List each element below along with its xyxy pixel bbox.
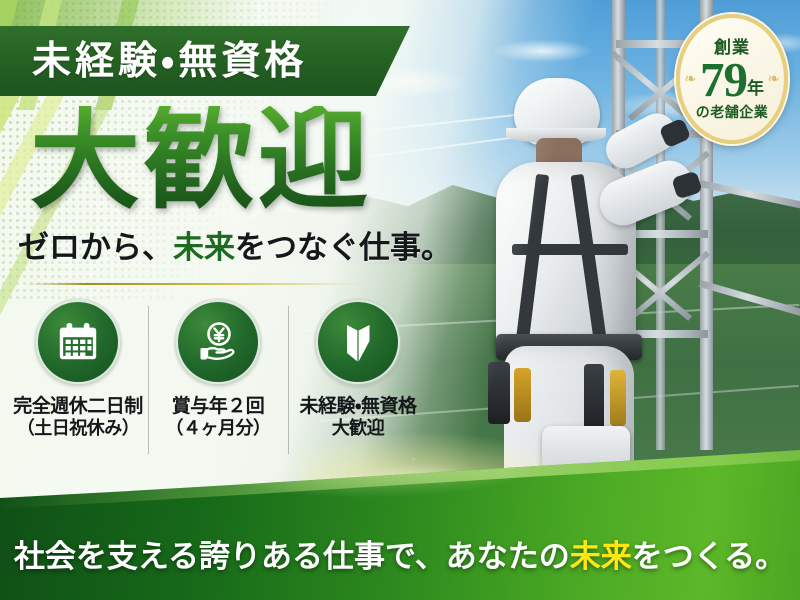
feature-label-sub: 大歓迎	[300, 418, 417, 440]
badge-unit: 年	[747, 80, 764, 97]
feature-item: 完全週休二日制 （土日祝休み）	[8, 300, 148, 470]
feature-label: 賞与年２回 （４ヶ月分）	[166, 395, 271, 440]
founded-badge: 創業 ❧ 79 年 ❧ の老舗企業	[676, 14, 788, 144]
tagline-after: をつなぐ仕事。	[235, 230, 452, 265]
badge-bottom-label: の老舗企業	[696, 105, 769, 119]
feature-item: 未経験・無資格 大歓迎	[288, 300, 428, 470]
gold-divider	[26, 283, 362, 285]
feature-list: 完全週休二日制 （土日祝休み） 賞与年２	[8, 300, 428, 470]
ribbon-label: 未経験・無資格	[32, 42, 307, 81]
laurel-right-icon: ❧	[767, 72, 780, 87]
feature-icon-circle	[176, 300, 260, 384]
badge-number: 79	[700, 57, 747, 102]
wakaba-leaf-icon	[336, 318, 380, 366]
tagline-highlight: 未来	[173, 230, 235, 265]
feature-label-sub: （４ヶ月分）	[166, 418, 271, 440]
recruitment-banner: 未経験・無資格 大歓迎 ゼロから、未来をつなぐ仕事。	[0, 0, 800, 600]
bottom-message-highlight: 未来	[570, 539, 632, 574]
bottom-message-before: 社会を支える誇りある仕事で、あなたの	[14, 539, 570, 574]
feature-label: 未経験・無資格 大歓迎	[300, 395, 417, 440]
ribbon-banner: 未経験・無資格	[0, 26, 410, 96]
feature-icon-circle	[316, 300, 400, 384]
feature-label-sub: （土日祝休み）	[13, 418, 143, 440]
bottom-message: 社会を支える誇りある仕事で、あなたの未来をつくる。	[0, 541, 800, 572]
laurel-left-icon: ❧	[684, 72, 697, 87]
main-headline: 大歓迎	[30, 106, 372, 216]
feature-label-main: 賞与年２回	[172, 396, 265, 417]
feature-label: 完全週休二日制 （土日祝休み）	[13, 395, 143, 440]
feature-label-main: 未経験・無資格	[300, 396, 417, 417]
tagline-before: ゼロから、	[18, 230, 173, 265]
calendar-icon	[55, 319, 101, 365]
feature-label-main: 完全週休二日制	[13, 396, 143, 417]
bottom-message-after: をつくる。	[632, 539, 786, 574]
hand-yen-icon	[194, 318, 242, 366]
feature-icon-circle	[36, 300, 120, 384]
badge-number-row: ❧ 79 年 ❧	[680, 57, 784, 102]
feature-item: 賞与年２回 （４ヶ月分）	[148, 300, 288, 470]
tagline: ゼロから、未来をつなぐ仕事。	[18, 232, 452, 263]
